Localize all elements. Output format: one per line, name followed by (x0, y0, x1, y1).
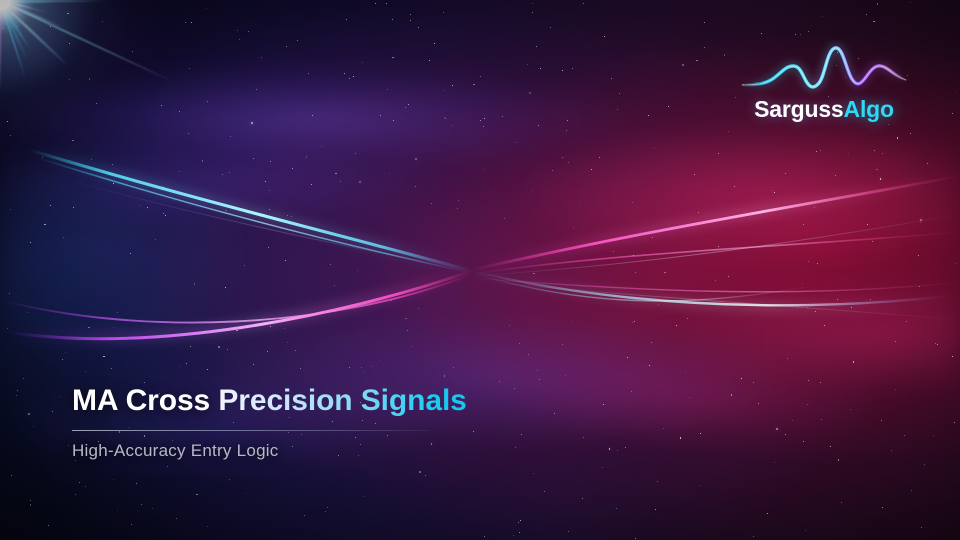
brand-name-primary: Sarguss (754, 96, 843, 122)
brand-logo[interactable]: SargussAlgo (736, 40, 912, 132)
title-accent: Precision Signals (218, 384, 466, 417)
promo-banner: SargussAlgo MA Cross Precision Signals H… (0, 0, 960, 540)
subtitle: High-Accuracy Entry Logic (72, 441, 279, 461)
title-strong: MA Cross (72, 384, 210, 417)
page-title: MA Cross Precision Signals (72, 385, 632, 417)
brand-wordmark: SargussAlgo (736, 96, 912, 123)
title-divider (72, 430, 430, 431)
brand-name-accent: Algo (844, 96, 894, 122)
waveform-logo-icon (740, 40, 908, 96)
headline-block: MA Cross Precision Signals High-Accuracy… (72, 385, 632, 417)
